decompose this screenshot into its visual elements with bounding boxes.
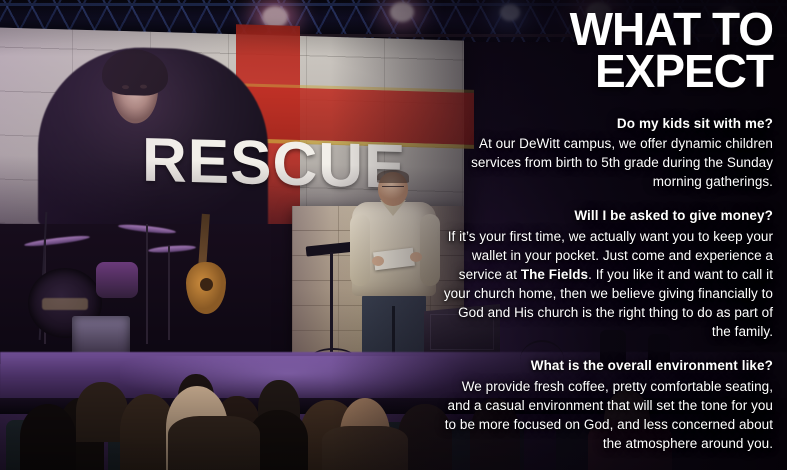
faq-item-kids: Do my kids sit with me? At our DeWitt ca… <box>443 115 773 192</box>
audience-shoulders <box>168 416 260 470</box>
faq-answer-text: We provide fresh coffee, pretty comforta… <box>445 379 773 451</box>
stage-light-icon <box>390 2 414 22</box>
faq-answer: We provide fresh coffee, pretty comforta… <box>443 377 773 454</box>
glasses-icon <box>382 186 404 191</box>
faq-item-money: Will I be asked to give money? If it’s y… <box>443 207 773 341</box>
acoustic-guitar-soundhole <box>200 278 213 291</box>
faq-question: Do my kids sit with me? <box>443 115 773 133</box>
speaker-hair <box>377 170 409 183</box>
title-line-2: EXPECT <box>443 50 773 92</box>
speaker-right-arm <box>420 214 440 286</box>
speaker-hand <box>372 256 384 266</box>
faq-question: What is the overall environment like? <box>443 357 773 375</box>
faq-answer-emphasis: The Fields <box>521 267 588 282</box>
poster-text-panel: WHAT TO EXPECT Do my kids sit with me? A… <box>443 0 773 453</box>
faq-answer: If it’s your first time, we actually wan… <box>443 227 773 342</box>
faq-item-environment: What is the overall environment like? We… <box>443 357 773 453</box>
cymbal-stand <box>146 224 148 344</box>
faq-answer-text: At our DeWitt campus, we offer dynamic c… <box>471 136 773 189</box>
tom-drum <box>96 262 138 298</box>
cymbal-stand <box>168 246 170 340</box>
audience-head <box>20 404 76 470</box>
faq-answer: At our DeWitt campus, we offer dynamic c… <box>443 134 773 191</box>
speaker-left-arm <box>350 214 370 286</box>
what-to-expect-poster: RESCUE RESCUED <box>0 0 787 470</box>
speaker-hand <box>410 252 422 262</box>
page-title: WHAT TO EXPECT <box>443 8 773 93</box>
faq-question: Will I be asked to give money? <box>443 207 773 225</box>
music-stand-pole <box>330 252 333 352</box>
audience-shoulders <box>322 426 408 470</box>
